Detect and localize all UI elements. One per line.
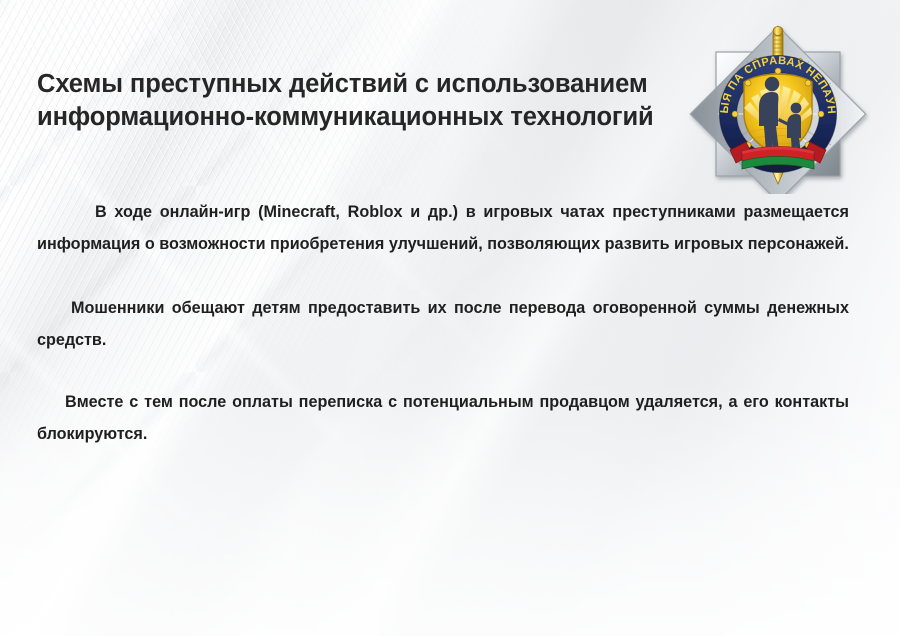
body-paragraph-3: Вместе с тем после оплаты переписка с по… <box>37 386 849 450</box>
body-paragraph-1: В ходе онлайн-игр (Minecraft, Roblox и д… <box>37 196 849 260</box>
presentation-slide: Схемы преступных действий с использовани… <box>0 0 900 636</box>
slide-title-line-1: Схемы преступных действий с использовани… <box>37 68 677 101</box>
slide-content: Схемы преступных действий с использовани… <box>0 0 900 636</box>
slide-title: Схемы преступных действий с использовани… <box>37 68 677 134</box>
juvenile-affairs-inspectorate-emblem-icon: ІНСПЕКЦЫЯ ПА СПРАВАХ НЕПАЎНАЛЕТНІХ <box>686 22 870 194</box>
slide-body: В ходе онлайн-игр (Minecraft, Roblox и д… <box>37 196 849 450</box>
slide-title-line-2: информационно-коммуникационных технологи… <box>37 101 677 134</box>
body-paragraph-2: Мошенники обещают детям предоставить их … <box>37 292 849 356</box>
